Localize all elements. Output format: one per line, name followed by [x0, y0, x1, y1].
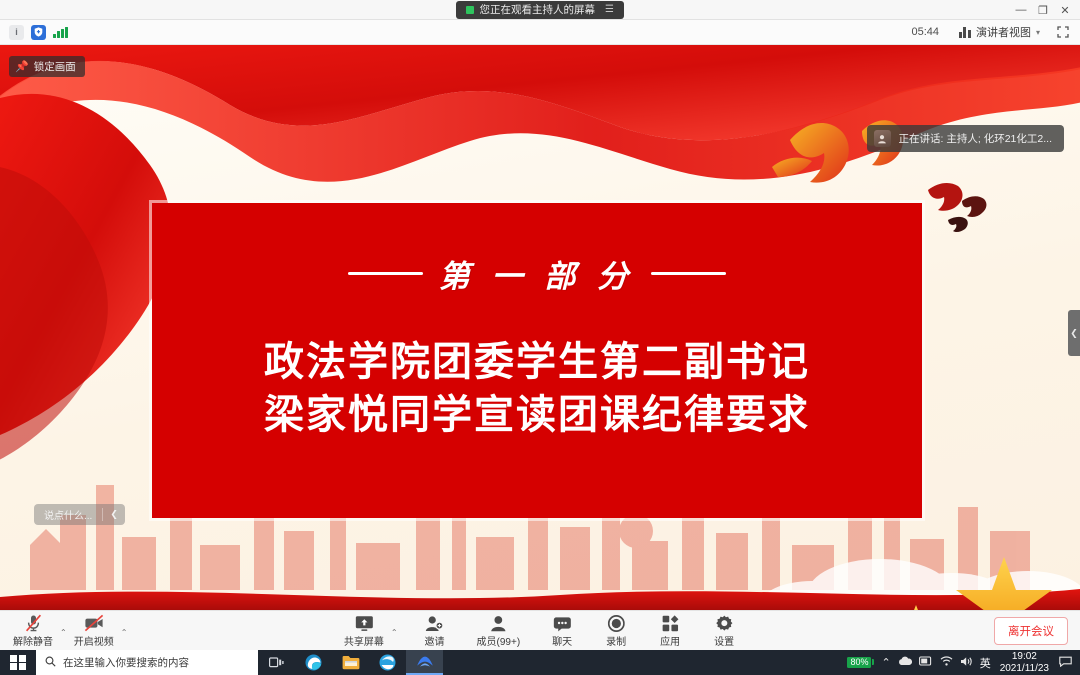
tencent-meeting-button[interactable]: [406, 650, 443, 675]
screen-share-icon: [354, 614, 373, 632]
sidebar-collapse-handle[interactable]: ❮: [1068, 310, 1080, 356]
meeting-info-bar: i 05:44 演讲者视图 ▾: [0, 20, 1080, 45]
person-icon: [877, 134, 887, 144]
ime-indicator[interactable]: 英: [980, 655, 991, 671]
taskbar-apps: [258, 650, 443, 675]
share-notice-text: 您正在观看主持人的屏幕: [480, 2, 596, 17]
pin-icon: 📌: [15, 60, 29, 73]
shield-icon[interactable]: [31, 25, 46, 40]
mic-glyph: [25, 614, 42, 632]
microphone-muted-icon: [25, 614, 42, 632]
chat-label: 聊天: [552, 633, 572, 648]
internet-explorer-button[interactable]: [369, 650, 406, 675]
rule-right: [651, 272, 726, 275]
notification-glyph: [1059, 656, 1072, 667]
wifi-icon[interactable]: [940, 656, 953, 669]
clock-time: 19:02: [1000, 651, 1049, 663]
audio-options-chevron-icon[interactable]: ⌃: [60, 628, 67, 650]
camera-glyph: [84, 614, 104, 632]
slide-part-label: 第 一 部 分: [439, 251, 635, 296]
system-tray: 80% ⌃: [847, 651, 1080, 675]
unmute-label: 解除静音: [13, 633, 53, 648]
volume-icon[interactable]: [960, 656, 973, 670]
apps-glyph: [662, 615, 679, 632]
share-screen-button[interactable]: 共享屏幕: [339, 612, 389, 650]
invite-user-icon: [425, 614, 444, 632]
invite-glyph: [425, 615, 444, 632]
fullscreen-glyph: [1057, 26, 1069, 38]
search-icon: [45, 656, 56, 670]
participants-glyph: [490, 615, 507, 632]
gear-glyph: [716, 615, 733, 632]
minimize-button[interactable]: —: [1010, 0, 1032, 20]
invite-label: 邀请: [425, 633, 445, 648]
share-notice-menu-icon[interactable]: ☰: [605, 4, 614, 15]
notification-icon[interactable]: [1056, 656, 1072, 670]
mini-chat-collapse-icon[interactable]: ❮: [103, 509, 125, 520]
apps-grid-icon: [662, 614, 679, 632]
gear-icon: [716, 614, 733, 632]
lock-screen-label: 锁定画面: [34, 59, 76, 74]
bird-small-3: [948, 217, 968, 232]
unmute-button[interactable]: 解除静音: [8, 612, 58, 650]
view-mode-label: 演讲者视图: [976, 24, 1031, 40]
shield-glyph: [34, 27, 43, 37]
volume-glyph: [960, 656, 973, 667]
close-button[interactable]: ✕: [1054, 0, 1076, 20]
tray-overflow-chevron-icon[interactable]: ⌃: [881, 656, 890, 669]
participants-button[interactable]: 成员(99+): [472, 612, 526, 650]
toolbar-center-group: 共享屏幕 ⌃ 邀请: [339, 612, 741, 650]
share-screen-label: 共享屏幕: [344, 633, 384, 648]
active-speaker-text: 正在讲话: 主持人; 化环21化工2...: [899, 131, 1052, 146]
participants-label: 成员(99+): [477, 633, 521, 648]
cloud-glyph: [898, 656, 912, 666]
record-label: 录制: [606, 633, 626, 648]
mini-chat-placeholder: 说点什么...: [34, 507, 102, 522]
rule-left: [348, 272, 423, 275]
folder-icon: [342, 655, 360, 670]
battery-percent: 80%: [847, 657, 871, 669]
file-explorer-button[interactable]: [332, 650, 369, 675]
bird-small-2: [962, 196, 986, 217]
tencent-meeting-window: 您正在观看主持人的屏幕 ☰ — ❐ ✕ i 05:44: [0, 0, 1080, 675]
settings-label: 设置: [714, 633, 734, 648]
start-video-button[interactable]: 开启视频: [69, 612, 119, 650]
windows-taskbar: 在这里输入你要搜索的内容: [0, 650, 1080, 675]
meeting-info-right: 05:44 演讲者视图 ▾: [899, 22, 1080, 42]
window-controls: — ❐ ✕: [1010, 0, 1076, 20]
participants-icon: [490, 614, 507, 632]
avatar: [874, 130, 891, 147]
task-view-button[interactable]: [258, 650, 295, 675]
window-title-bar: 您正在观看主持人的屏幕 ☰ — ❐ ✕: [0, 0, 1080, 20]
share-screen-group: 共享屏幕 ⌃: [339, 612, 398, 650]
screen-share-glyph: [354, 615, 373, 632]
active-speaker-chip[interactable]: 正在讲话: 主持人; 化环21化工2...: [867, 125, 1064, 152]
fullscreen-icon[interactable]: [1052, 23, 1074, 41]
info-icon[interactable]: i: [9, 25, 24, 40]
slide-title-line-2: 梁家悦同学宣读团课纪律要求: [152, 389, 922, 442]
layout-icon: [959, 27, 971, 38]
view-mode-selector[interactable]: 演讲者视图 ▾: [951, 22, 1048, 42]
meeting-timer: 05:44: [899, 26, 951, 38]
chat-bubble-icon: [553, 614, 572, 632]
wifi-glyph: [940, 656, 953, 666]
leave-meeting-button[interactable]: 离开会议: [994, 617, 1068, 645]
screen-share-notice[interactable]: 您正在观看主持人的屏幕 ☰: [456, 1, 625, 19]
settings-button[interactable]: 设置: [707, 612, 741, 650]
slide-red-panel: 第 一 部 分 政法学院团委学生第二副书记 梁家悦同学宣读团课纪律要求: [152, 203, 922, 518]
onedrive-icon[interactable]: [898, 656, 912, 669]
edge-button[interactable]: [295, 650, 332, 675]
bird-small-1: [928, 183, 963, 211]
meeting-info-left: i: [0, 25, 68, 40]
toolbar-left-group: 解除静音 ⌃ 开启视频 ⌃: [0, 612, 127, 650]
chat-button[interactable]: 聊天: [545, 612, 579, 650]
slide-title-line-1: 政法学院团委学生第二副书记: [152, 336, 922, 389]
display-glyph: [919, 656, 933, 666]
task-view-icon: [269, 656, 284, 669]
meeting-icon: [416, 654, 434, 669]
camera-off-icon: [84, 614, 104, 632]
display-icon[interactable]: [919, 656, 933, 669]
start-video-label: 开启视频: [74, 633, 114, 648]
share-status-dot: [466, 6, 474, 14]
record-glyph: [608, 615, 625, 632]
start-button[interactable]: [0, 650, 36, 675]
windows-logo-icon: [10, 655, 26, 671]
record-button[interactable]: 录制: [599, 612, 633, 650]
share-options-chevron-icon[interactable]: ⌃: [391, 628, 398, 650]
clock-date: 2021/11/23: [1000, 663, 1049, 675]
edge-icon: [305, 654, 322, 671]
search-input[interactable]: 在这里输入你要搜索的内容: [36, 650, 258, 675]
lock-screen-button[interactable]: 📌 锁定画面: [9, 56, 85, 77]
chat-glyph: [553, 616, 572, 632]
chevron-down-icon: ▾: [1036, 28, 1040, 37]
meeting-toolbar: 解除静音 ⌃ 开启视频 ⌃: [0, 610, 1080, 650]
slide-title: 政法学院团委学生第二副书记 梁家悦同学宣读团课纪律要求: [152, 336, 922, 442]
invite-button[interactable]: 邀请: [418, 612, 452, 650]
apps-label: 应用: [660, 633, 680, 648]
ie-icon: [379, 654, 396, 671]
restore-button[interactable]: ❐: [1032, 0, 1054, 20]
apps-button[interactable]: 应用: [653, 612, 687, 650]
record-icon: [608, 614, 625, 632]
video-options-chevron-icon[interactable]: ⌃: [121, 628, 128, 650]
mini-chat-input[interactable]: 说点什么... ❮: [34, 504, 125, 525]
shared-screen-stage[interactable]: 第 一 部 分 政法学院团委学生第二副书记 梁家悦同学宣读团课纪律要求 📌 锁定…: [0, 45, 1080, 610]
battery-indicator[interactable]: 80%: [847, 657, 874, 669]
slide-section-header: 第 一 部 分: [152, 251, 922, 296]
search-placeholder: 在这里输入你要搜索的内容: [63, 655, 189, 670]
battery-tip: [872, 659, 874, 665]
magnifier-glyph: [45, 656, 56, 667]
taskbar-clock[interactable]: 19:02 2021/11/23: [998, 651, 1049, 675]
network-signal-icon[interactable]: [53, 27, 68, 38]
